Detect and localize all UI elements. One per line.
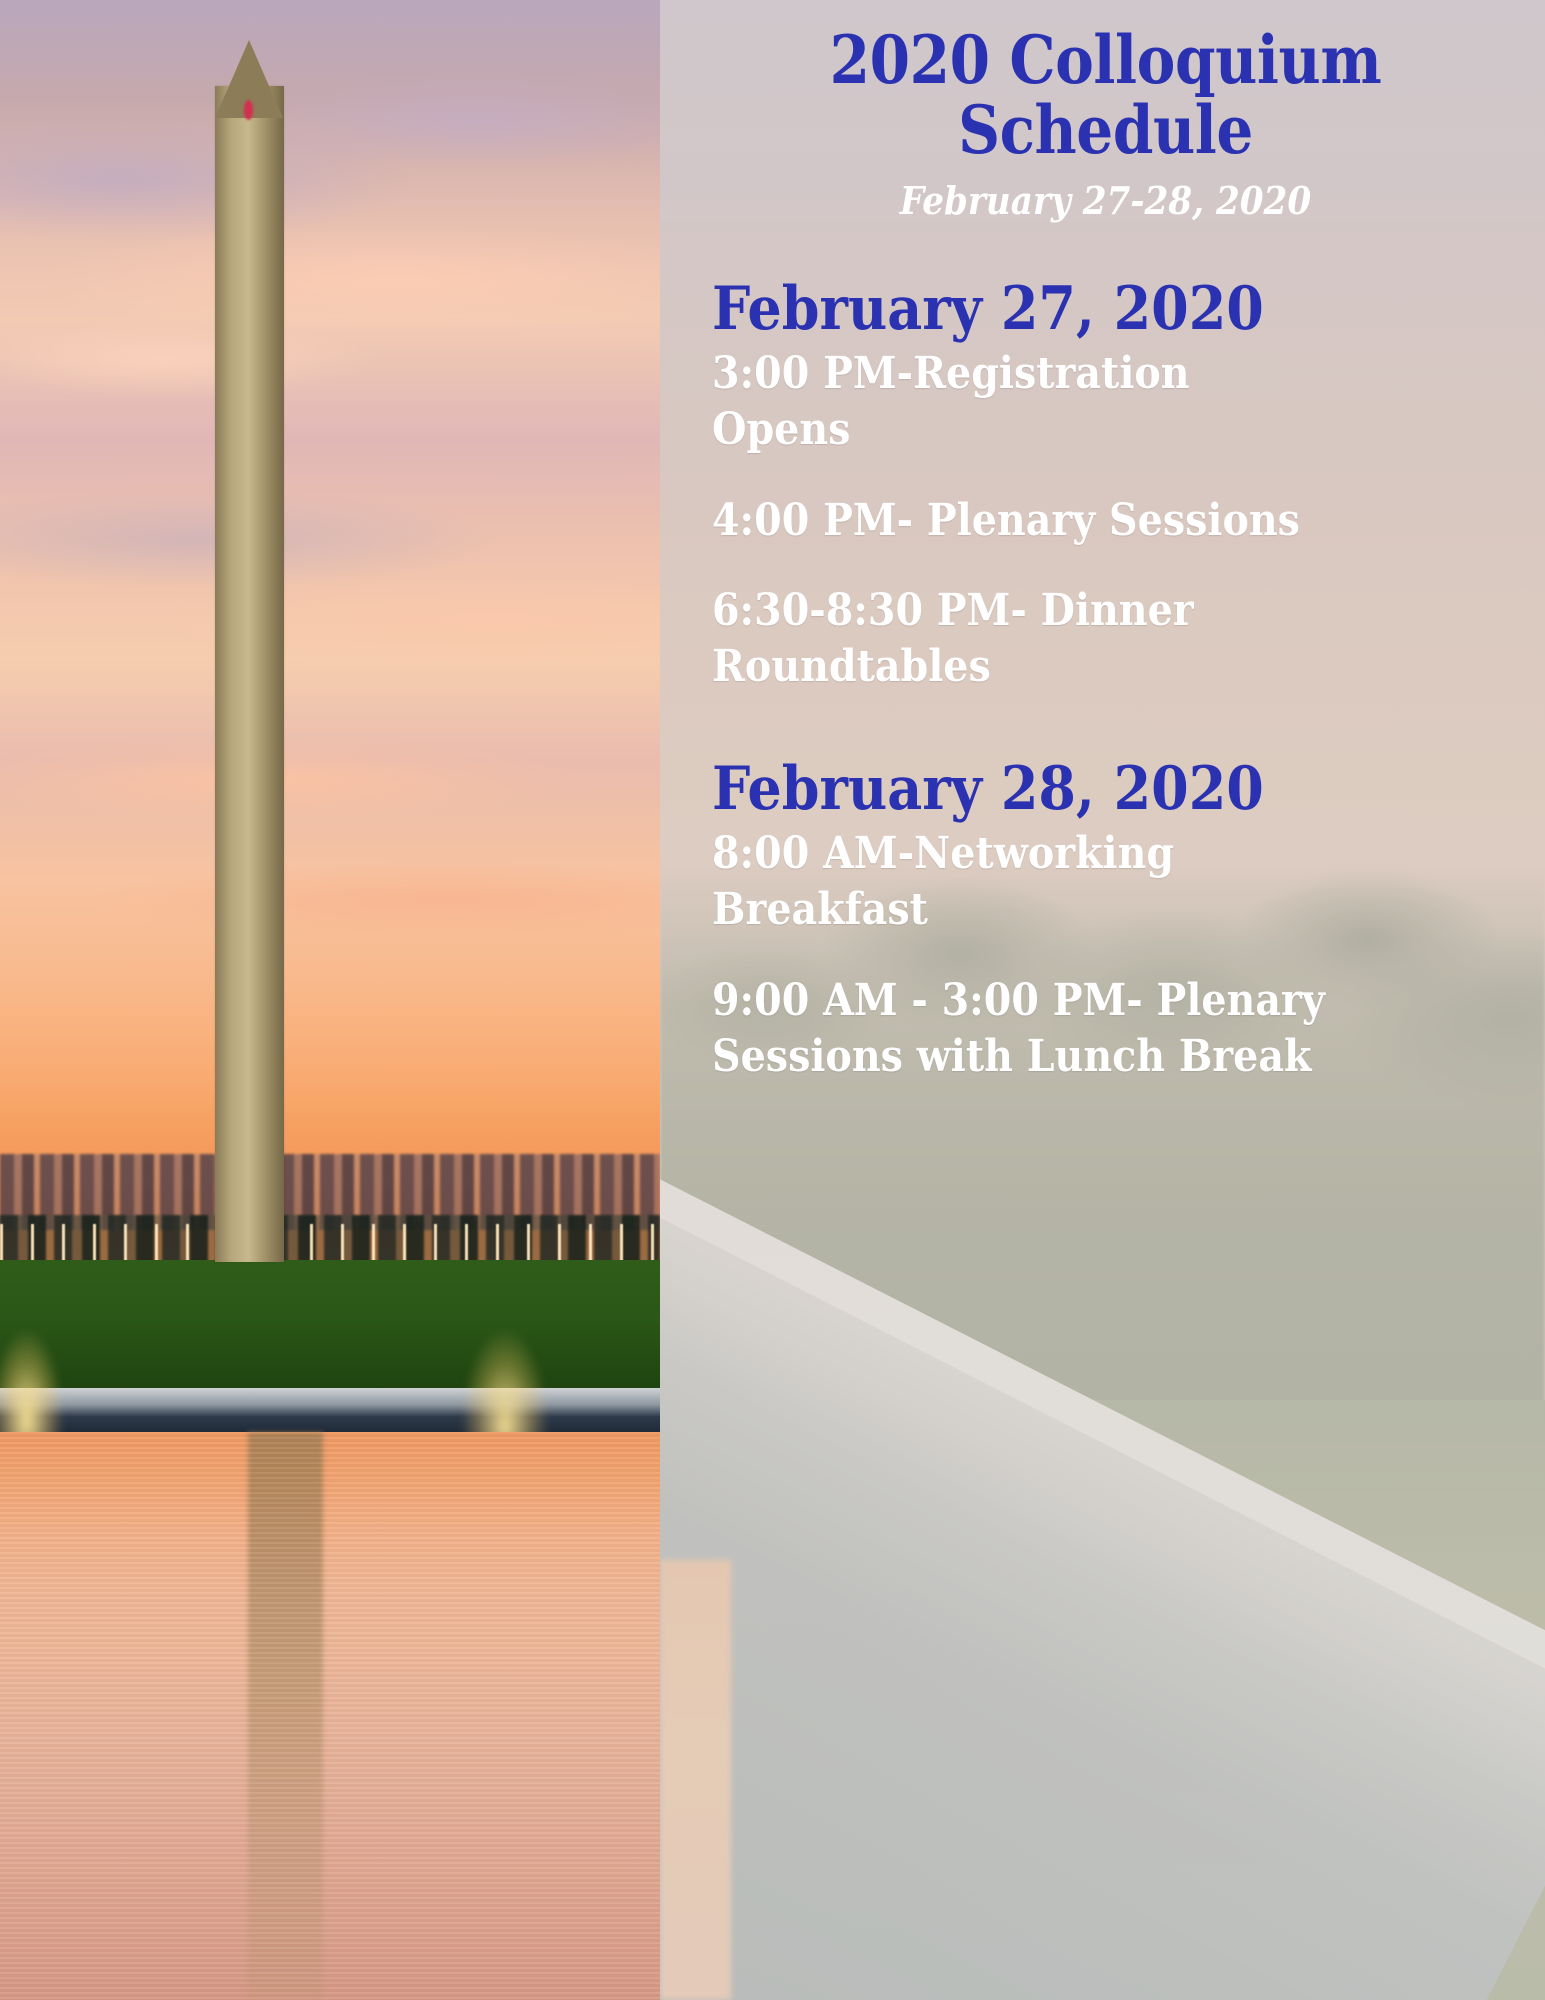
pool-seawall	[0, 1388, 660, 1436]
day-group-feb-27: February 27, 2020 3:00 PM-Registration O…	[712, 278, 1499, 696]
schedule-text-panel: 2020 Colloquium Schedule February 27-28,…	[660, 0, 1545, 2000]
day-heading-feb-28: February 28, 2020	[712, 758, 1420, 820]
reflecting-pool-water	[0, 1432, 660, 2000]
day-group-feb-28: February 28, 2020 8:00 AM-Networking Bre…	[712, 758, 1499, 1086]
schedule-item-networking-breakfast: 8:00 AM-Networking Breakfast	[712, 826, 1306, 939]
washington-monument-obelisk	[215, 86, 284, 1262]
schedule-item-dinner-roundtables: 6:30-8:30 PM- Dinner Roundtables	[712, 583, 1306, 696]
day-heading-feb-27: February 27, 2020	[712, 278, 1420, 340]
schedule-item-plenary-evening: 4:00 PM- Plenary Sessions	[712, 493, 1306, 549]
schedule-item-plenary-lunch: 9:00 AM - 3:00 PM- Plenary Sessions with…	[712, 973, 1360, 1086]
washington-monument-photo	[0, 0, 660, 2000]
colloquium-schedule-flyer: 2020 Colloquium Schedule February 27-28,…	[0, 0, 1545, 2000]
schedule-item-registration: 3:00 PM-Registration Opens	[712, 346, 1306, 459]
national-mall-lawn	[0, 1260, 660, 1388]
page-title: 2020 Colloquium Schedule	[759, 26, 1452, 166]
event-dates-subtitle: February 27-28, 2020	[751, 180, 1459, 222]
monument-beacon-light	[244, 100, 253, 120]
